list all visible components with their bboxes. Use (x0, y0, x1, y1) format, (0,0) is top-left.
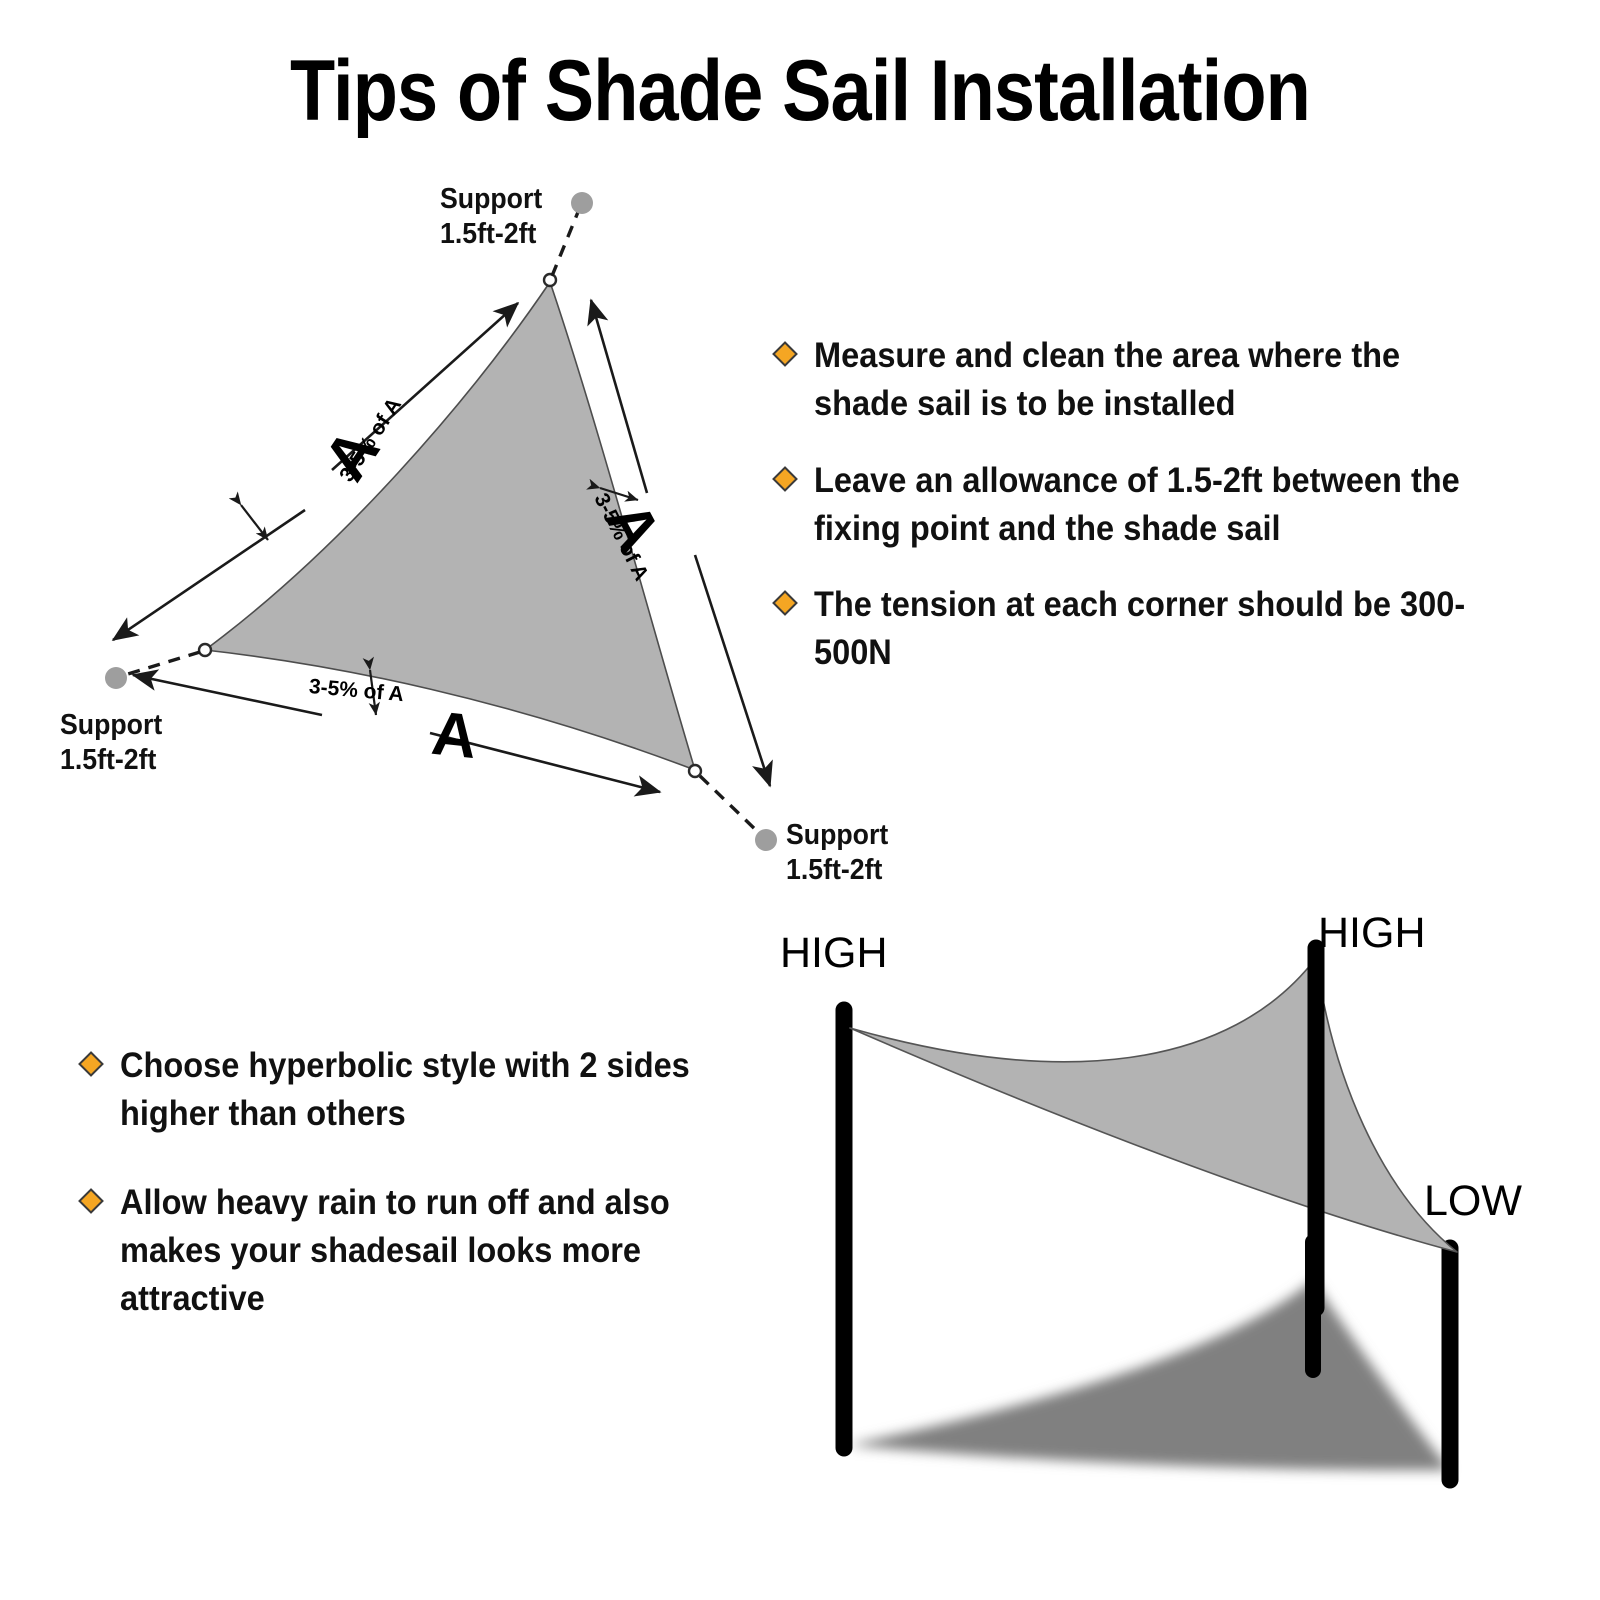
list-item: Allow heavy rain to run off and also mak… (78, 1179, 798, 1324)
support-label-right: Support 1.5ft-2ft (786, 818, 888, 889)
sail-ground-shadow (848, 1280, 1450, 1470)
support-label-top: Support 1.5ft-2ft (440, 182, 542, 253)
tips-list-bottom: Choose hyperbolic style with 2 sides hig… (78, 1042, 798, 1363)
support-leader-right (700, 776, 758, 832)
support-dot-left (105, 667, 127, 689)
list-item-text: Allow heavy rain to run off and also mak… (120, 1179, 751, 1324)
list-item-text: Choose hyperbolic style with 2 sides hig… (120, 1042, 751, 1139)
post-label-high-left: HIGH (780, 932, 888, 975)
list-item-text: The tension at each corner should be 300… (814, 581, 1482, 678)
list-item: Choose hyperbolic style with 2 sides hig… (78, 1042, 798, 1139)
hyperbolic-sail-shape (850, 958, 1457, 1252)
tips-list-top: Measure and clean the area where the sha… (772, 332, 1532, 706)
list-item-text: Leave an allowance of 1.5-2ft between th… (814, 457, 1482, 554)
support-leader-top (552, 212, 578, 276)
support-label-left: Support 1.5ft-2ft (60, 708, 162, 779)
list-item: Leave an allowance of 1.5-2ft between th… (772, 457, 1532, 554)
diamond-bullet-icon (78, 1188, 104, 1214)
diamond-bullet-icon (78, 1051, 104, 1077)
support-dot-top (571, 192, 593, 214)
post-label-high-right: HIGH (1318, 912, 1426, 955)
post-label-low: LOW (1424, 1180, 1522, 1223)
dim-arrow-right-b (695, 555, 770, 786)
support-dot-right (755, 829, 777, 851)
list-item-text: Measure and clean the area where the sha… (814, 332, 1482, 429)
diamond-bullet-icon (772, 466, 798, 492)
edge-length-label-bottom: A (429, 703, 480, 769)
eyelet-left (199, 644, 211, 656)
eyelet-right (689, 765, 701, 777)
support-leader-left (128, 652, 200, 674)
eyelet-top (544, 274, 556, 286)
diamond-bullet-icon (772, 341, 798, 367)
list-item: The tension at each corner should be 300… (772, 581, 1532, 678)
page-title: Tips of Shade Sail Installation (112, 48, 1488, 136)
diamond-bullet-icon (772, 590, 798, 616)
list-item: Measure and clean the area where the sha… (772, 332, 1532, 429)
dim-depth-left (241, 505, 268, 540)
